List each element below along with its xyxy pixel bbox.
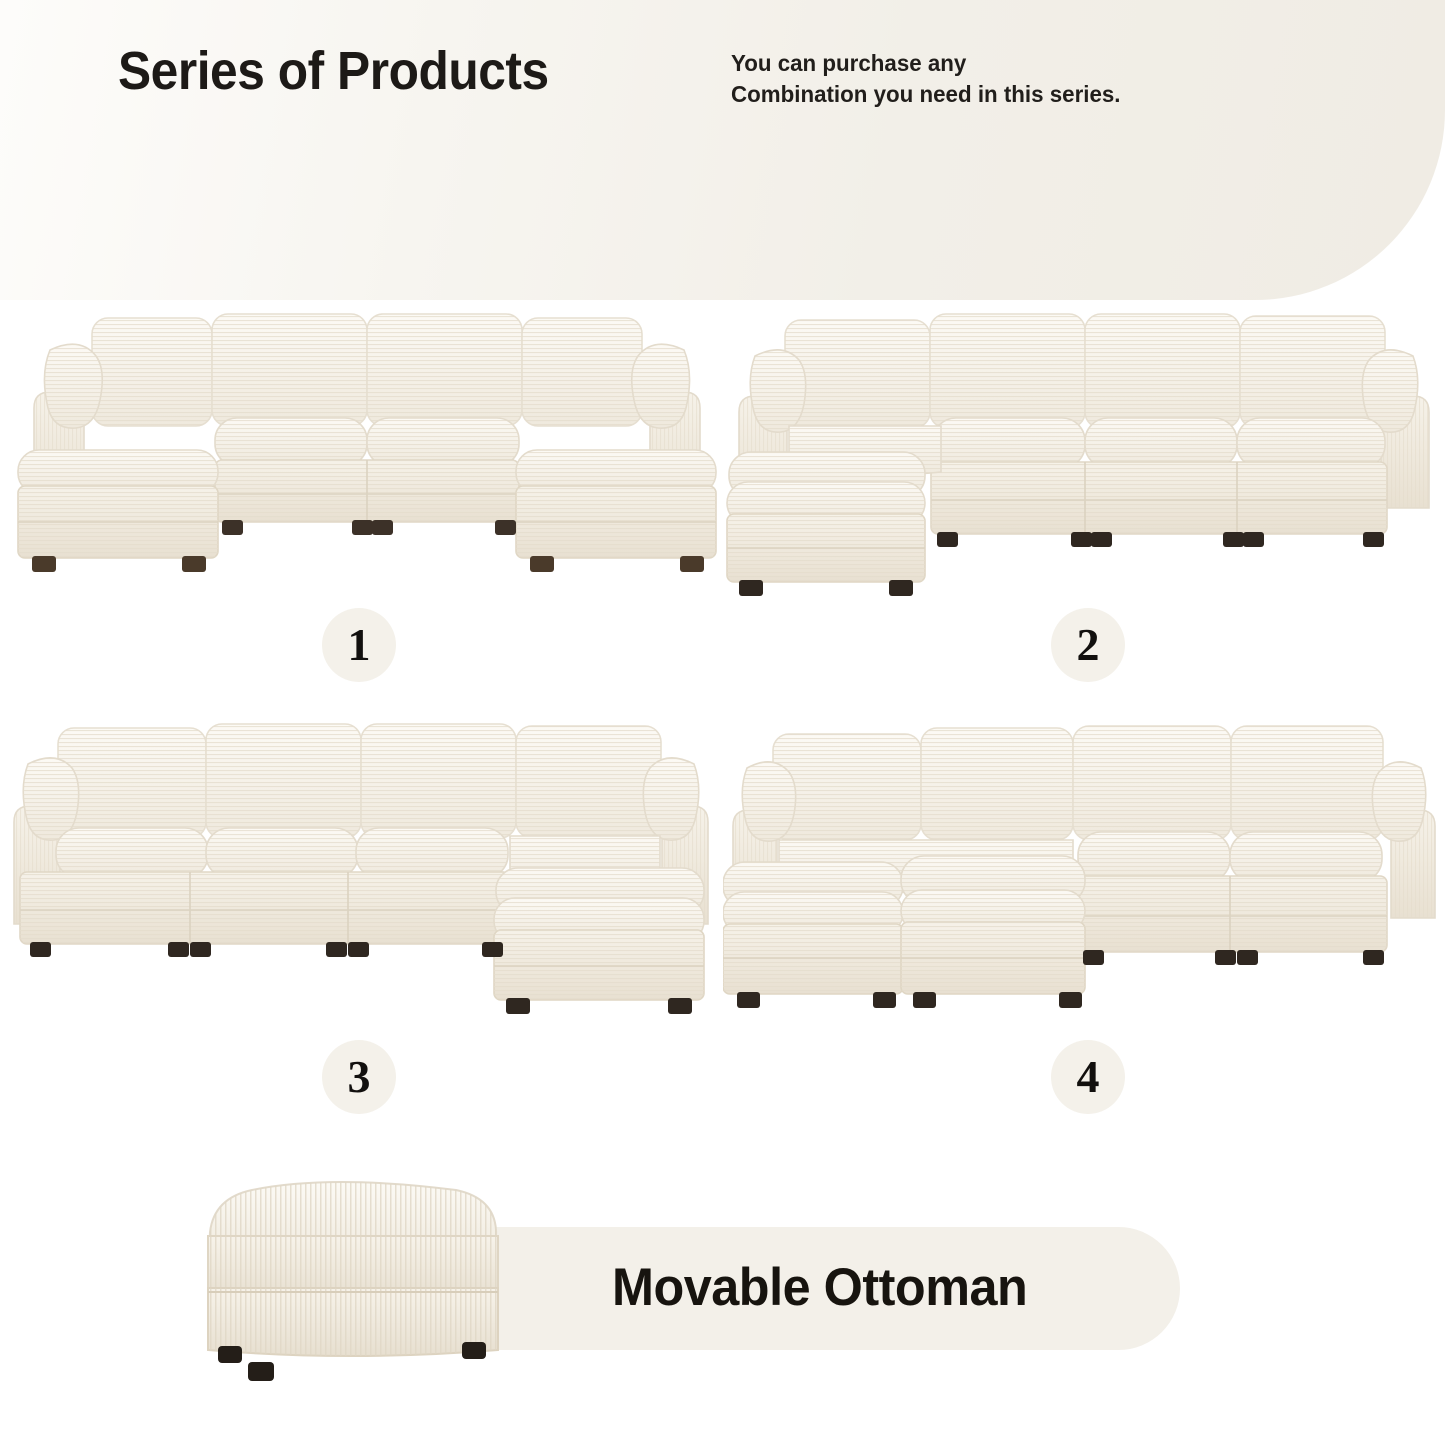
movable-ottoman-illustration (190, 1170, 570, 1400)
infographic-page: Series of Products You can purchase any … (0, 0, 1445, 1445)
product-cell-2[interactable] (723, 300, 1445, 725)
movable-ottoman-section: Movable Ottoman (0, 1150, 1445, 1445)
header-content: Series of Products You can purchase any … (0, 0, 1445, 300)
product-cell-1[interactable] (0, 300, 722, 725)
product-cell-4[interactable] (723, 710, 1445, 1135)
product-cell-3[interactable] (0, 710, 722, 1135)
sofa-illustration-4 (723, 710, 1445, 1030)
sofa-illustration-1 (0, 300, 722, 620)
movable-ottoman-label: Movable Ottoman (612, 1247, 1144, 1327)
product-grid (0, 300, 1445, 1150)
page-subtitle: You can purchase any Combination you nee… (731, 48, 1121, 111)
sofa-illustration-3 (0, 710, 722, 1030)
page-title: Series of Products (118, 40, 549, 102)
sofa-illustration-2 (723, 300, 1445, 620)
